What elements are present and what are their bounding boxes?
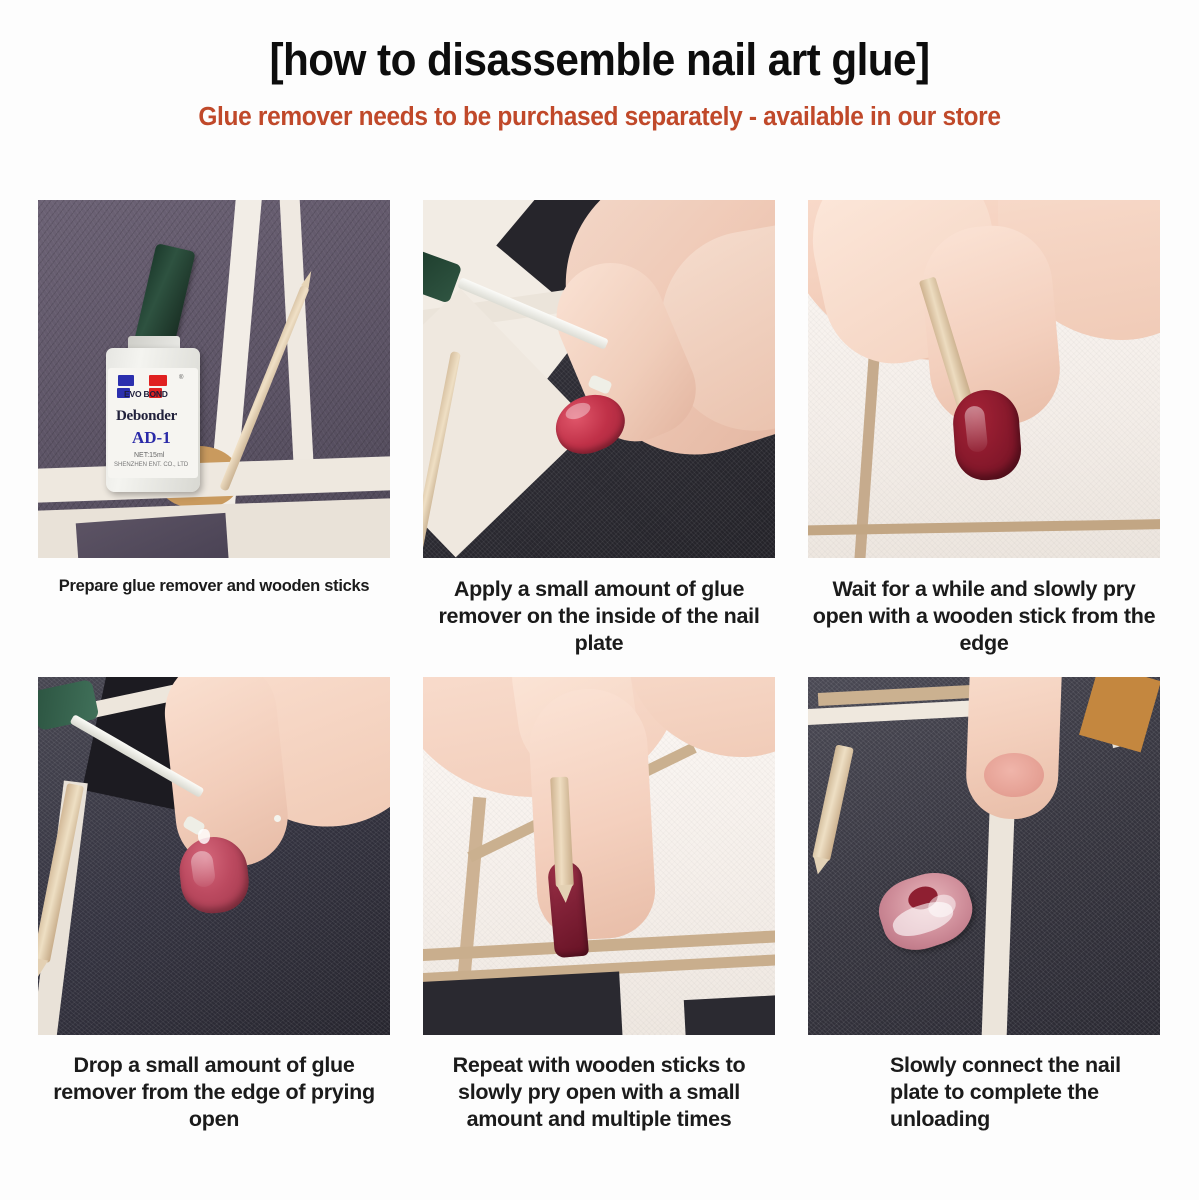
logo-block-red xyxy=(149,375,167,386)
step-image-1: EVO BOND ® Debonder AD-1 NET:15ml SHENZH… xyxy=(38,200,390,558)
step-card-4: Drop a small amount of glue remover from… xyxy=(38,677,390,1133)
step-image-3 xyxy=(808,200,1160,558)
decor-dark-shape xyxy=(423,972,623,1035)
brand-name: EVO BOND xyxy=(124,389,168,399)
product-manufacturer: SHENZHEN ENT. CO., LTD xyxy=(114,462,188,468)
header: [how to disassemble nail art glue] Glue … xyxy=(0,0,1199,132)
step-caption-6: Slowly connect the nail plate to complet… xyxy=(808,1052,1160,1133)
step-card-3: Wait for a while and slowly pry open wit… xyxy=(808,200,1160,657)
product-net-content: NET:15ml xyxy=(134,452,164,459)
step-image-4 xyxy=(38,677,390,1035)
step-image-5 xyxy=(423,677,775,1035)
step-card-1: EVO BOND ® Debonder AD-1 NET:15ml SHENZH… xyxy=(38,200,390,657)
registered-mark-icon: ® xyxy=(179,375,183,381)
page-subtitle: Glue remover needs to be purchased separ… xyxy=(24,103,1175,132)
red-nail xyxy=(951,388,1023,482)
finger xyxy=(527,686,658,942)
steps-grid: EVO BOND ® Debonder AD-1 NET:15ml SHENZH… xyxy=(38,200,1164,1133)
step-card-6: Slowly connect the nail plate to complet… xyxy=(808,677,1160,1133)
decor-dark-shape xyxy=(684,994,775,1035)
finger xyxy=(965,677,1064,821)
step-card-5: Repeat with wooden sticks to slowly pry … xyxy=(423,677,775,1133)
infographic-page: [how to disassemble nail art glue] Glue … xyxy=(0,0,1199,1200)
step-image-2 xyxy=(423,200,775,558)
product-name: Debonder xyxy=(116,408,177,425)
logo-block-blue xyxy=(118,375,134,386)
bottle-label: EVO BOND ® Debonder AD-1 NET:15ml SHENZH… xyxy=(108,368,198,478)
page-title: [how to disassemble nail art glue] xyxy=(36,36,1163,83)
step-image-6 xyxy=(808,677,1160,1035)
step-caption-2: Apply a small amount of glue remover on … xyxy=(423,576,775,657)
step-caption-4: Drop a small amount of glue remover from… xyxy=(38,1052,390,1133)
product-model: AD-1 xyxy=(132,428,171,448)
step-caption-1: Prepare glue remover and wooden sticks xyxy=(38,576,390,597)
step-caption-5: Repeat with wooden sticks to slowly pry … xyxy=(423,1052,775,1133)
bare-fingertip xyxy=(984,753,1044,797)
step-card-2: Apply a small amount of glue remover on … xyxy=(423,200,775,657)
step-caption-3: Wait for a while and slowly pry open wit… xyxy=(808,576,1160,657)
brand-logo: EVO BOND ® xyxy=(116,373,198,403)
